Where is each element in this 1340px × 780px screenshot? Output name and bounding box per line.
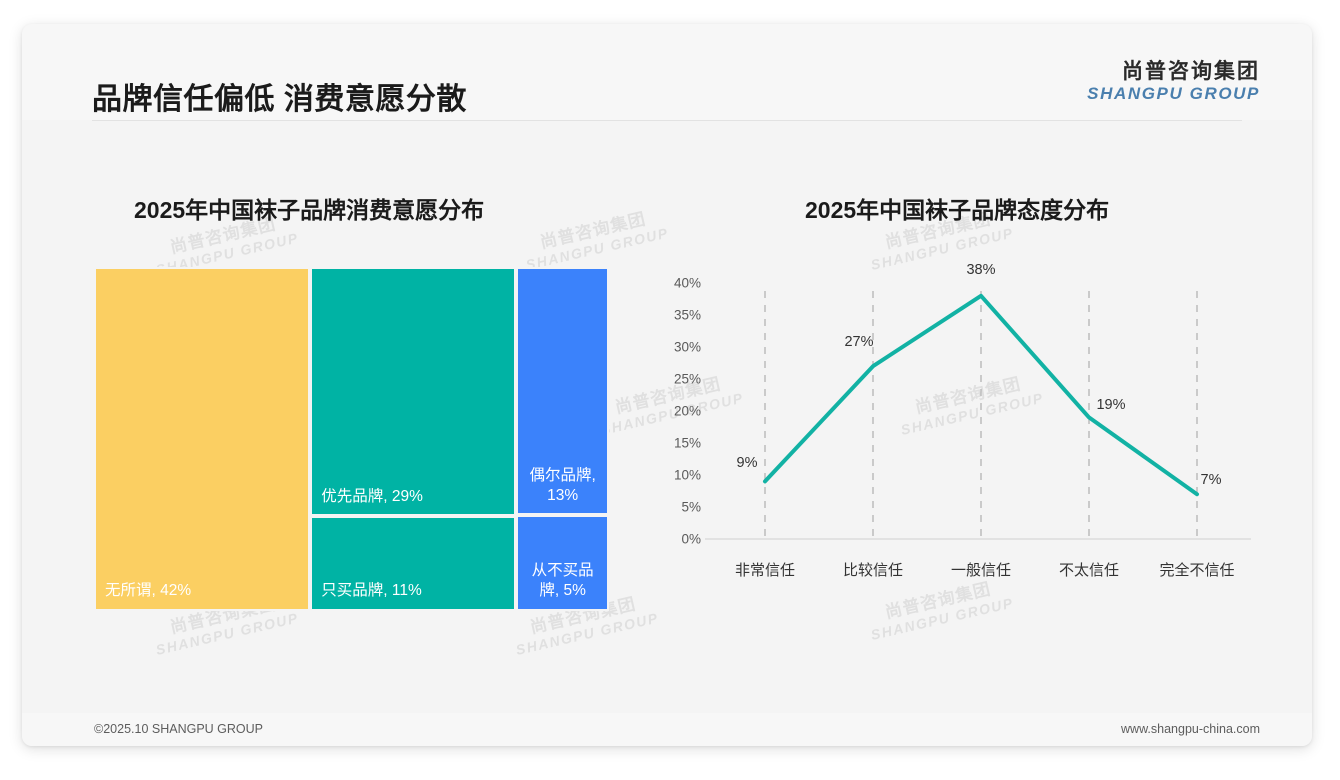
company-logo: 尚普咨询集团 SHANGPU GROUP — [1087, 60, 1260, 103]
data-point-label: 38% — [966, 262, 995, 278]
website-link[interactable]: www.shangpu-china.com — [1121, 722, 1260, 736]
x-axis-tick-label: 非常信任 — [735, 559, 795, 580]
line-chart: 0%5%10%15%20%25%30%35%40% 非常信任比较信任一般信任不太… — [649, 261, 1269, 611]
data-point-label: 27% — [844, 334, 873, 350]
treemap-cell-wusuowei[interactable]: 无所谓, 42% — [94, 267, 310, 611]
x-axis-tick-label: 完全不信任 — [1159, 559, 1234, 580]
treemap-cell-label: 从不买品牌, 5% — [522, 561, 603, 601]
x-axis-tick-label: 比较信任 — [843, 559, 903, 580]
logo-english-text: SHANGPU GROUP — [1087, 84, 1260, 103]
treemap-chart: 无所谓, 42% 优先品牌, 29% 偶尔品牌, 13% 只买品牌, 11% 从… — [94, 267, 609, 611]
treemap-chart-title: 2025年中国袜子品牌消费意愿分布 — [134, 191, 484, 225]
slide-header: 品牌信任偏低 消费意愿分散 尚普咨询集团 SHANGPU GROUP — [22, 24, 1312, 120]
copyright-text: ©2025.10 SHANGPU GROUP — [94, 722, 263, 736]
treemap-cell-label: 无所谓, 42% — [105, 581, 302, 601]
data-point-label: 19% — [1096, 397, 1125, 413]
slide-card: 品牌信任偏低 消费意愿分散 尚普咨询集团 SHANGPU GROUP 尚普咨询集… — [22, 24, 1312, 746]
watermark: 尚普咨询集团SHANGPU GROUP — [520, 205, 671, 273]
treemap-cell-congbumaipinpai[interactable]: 从不买品牌, 5% — [516, 515, 609, 611]
treemap-cell-label: 只买品牌, 11% — [321, 581, 508, 601]
treemap-cell-youxianpinpai[interactable]: 优先品牌, 29% — [310, 267, 516, 516]
treemap-cell-zhimaipinpai[interactable]: 只买品牌, 11% — [310, 516, 516, 611]
treemap-cell-label: 偶尔品牌, 13% — [522, 466, 603, 506]
x-axis-tick-label: 一般信任 — [951, 559, 1011, 580]
line-chart-title: 2025年中国袜子品牌态度分布 — [805, 191, 1109, 225]
treemap-cell-ouerpinpai[interactable]: 偶尔品牌, 13% — [516, 267, 609, 515]
logo-chinese-text: 尚普咨询集团 — [1087, 60, 1260, 84]
x-axis-tick-label: 不太信任 — [1059, 559, 1119, 580]
slide-body: 尚普咨询集团SHANGPU GROUP 尚普咨询集团SHANGPU GROUP … — [22, 121, 1312, 713]
data-point-label: 7% — [1201, 472, 1222, 488]
data-point-label: 9% — [737, 455, 758, 471]
slide-footer: ©2025.10 SHANGPU GROUP www.shangpu-china… — [22, 713, 1312, 746]
page-title: 品牌信任偏低 消费意愿分散 — [92, 74, 467, 118]
treemap-cell-label: 优先品牌, 29% — [321, 487, 508, 507]
